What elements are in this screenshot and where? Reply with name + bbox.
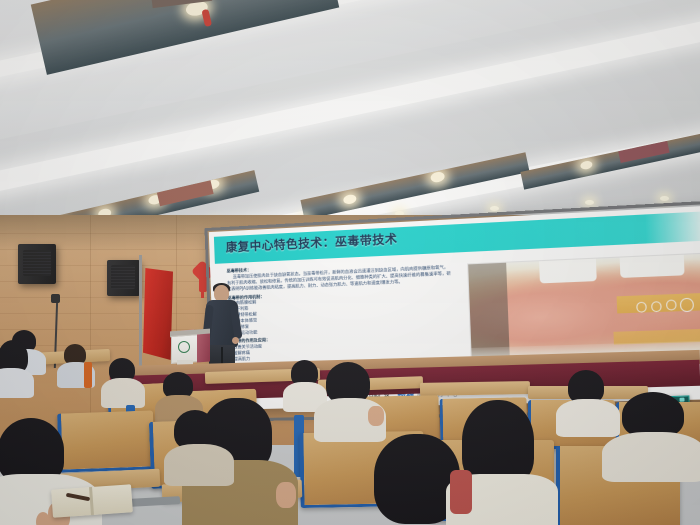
downlight-icon	[490, 206, 499, 211]
flag-pole	[139, 255, 142, 370]
audience-person	[318, 362, 384, 434]
podium-side-panel	[197, 334, 210, 363]
podium-emblem-icon	[178, 341, 190, 353]
audience-person	[168, 410, 232, 480]
lecture-hall-screenshot: 康复中心特色技术：巫毒带技术 巫毒带技术： 巫毒带加压使肌肉处于缺血缺氧状态。当…	[0, 0, 700, 525]
desk-surface	[420, 381, 530, 396]
wall-speaker-left	[18, 244, 56, 284]
slide-photo-legs	[467, 252, 700, 365]
audience-person	[0, 340, 30, 392]
notebook-spine	[89, 487, 94, 515]
audience-person	[104, 358, 144, 404]
ceiling-recess-panel-right	[520, 128, 700, 189]
presenter-speaker	[205, 285, 239, 373]
slide-body: 巫毒带技术： 巫毒带加压使肌肉处于缺血缺氧状态。当巫毒带松开，新鲜的血液会迅速灌…	[227, 258, 456, 362]
audience-person	[606, 392, 700, 468]
seat-frame	[84, 362, 92, 388]
wall-speaker-right	[107, 260, 140, 296]
open-notebook	[51, 484, 133, 518]
downlight-icon	[660, 196, 669, 201]
audience-person-foreground	[452, 400, 548, 525]
red-flag	[143, 268, 173, 360]
downlight-icon	[585, 200, 594, 205]
presenter-hand	[232, 337, 239, 344]
microphone-head-icon	[51, 294, 60, 303]
